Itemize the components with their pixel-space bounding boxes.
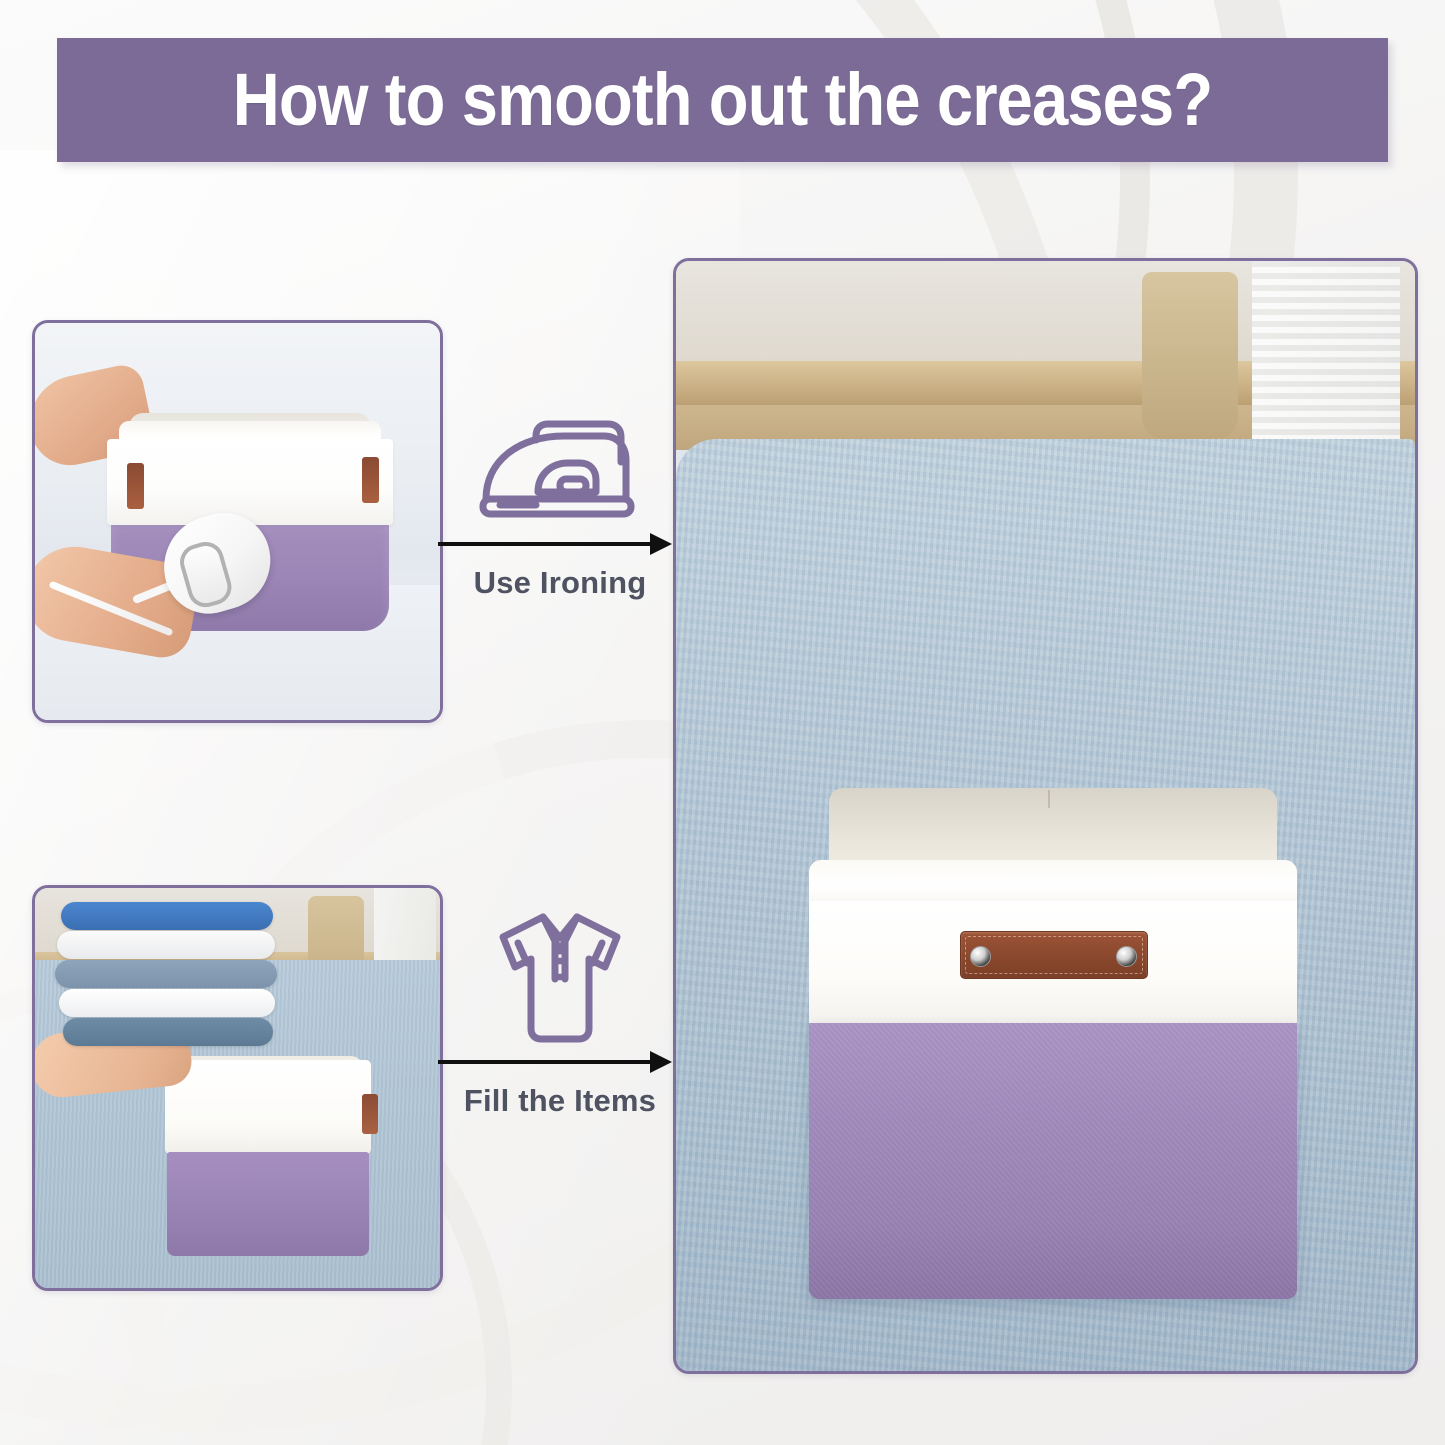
right-arrow-icon [444, 1048, 676, 1074]
steamer-soleplate [176, 538, 236, 612]
photo-use-ironing [35, 323, 440, 720]
basket-white-body [107, 439, 393, 525]
infographic-canvas: How to smooth out the creases? [0, 0, 1445, 1445]
storage-basket-hero [809, 788, 1297, 1299]
step-fill-the-items: Fill the Items [444, 910, 676, 1119]
arrow-line [438, 1060, 656, 1064]
leather-tab-right [362, 1094, 378, 1134]
woven-basket [1142, 272, 1238, 439]
storage-basket [165, 1060, 371, 1256]
photo-hero [676, 261, 1415, 1371]
basket-white-body [165, 1060, 371, 1154]
step-label-use-ironing: Use Ironing [444, 565, 676, 601]
leather-handle [960, 931, 1147, 979]
photo-fill-the-items [35, 888, 440, 1288]
folded-clothes-stack [53, 902, 279, 1052]
basket-purple-body [809, 1023, 1297, 1299]
iron-icon [444, 392, 676, 530]
header-banner: How to smooth out the creases? [57, 38, 1388, 162]
right-arrow-icon [444, 530, 676, 556]
basket-interior-seam [1048, 790, 1050, 807]
photo-panel-hero [673, 258, 1418, 1374]
photo-panel-use-ironing [32, 320, 443, 723]
leather-tab-right [362, 457, 379, 503]
polo-shirt-icon [444, 910, 676, 1048]
grommet-right [1116, 946, 1137, 967]
arrow-head [650, 533, 672, 555]
basket-purple-body [167, 1152, 369, 1256]
leather-tab-left [127, 463, 144, 509]
step-label-fill-the-items: Fill the Items [444, 1083, 676, 1119]
folded-item-blue [61, 902, 273, 930]
page-title: How to smooth out the creases? [233, 63, 1212, 137]
folded-item-white-2 [59, 989, 275, 1017]
folded-item-denim [63, 1018, 273, 1046]
arrow-head [650, 1051, 672, 1073]
folded-item-grey-blue [55, 960, 277, 988]
arrow-line [438, 542, 656, 546]
step-use-ironing: Use Ironing [444, 392, 676, 601]
folded-item-white [57, 931, 275, 959]
photo-panel-fill-the-items [32, 885, 443, 1291]
